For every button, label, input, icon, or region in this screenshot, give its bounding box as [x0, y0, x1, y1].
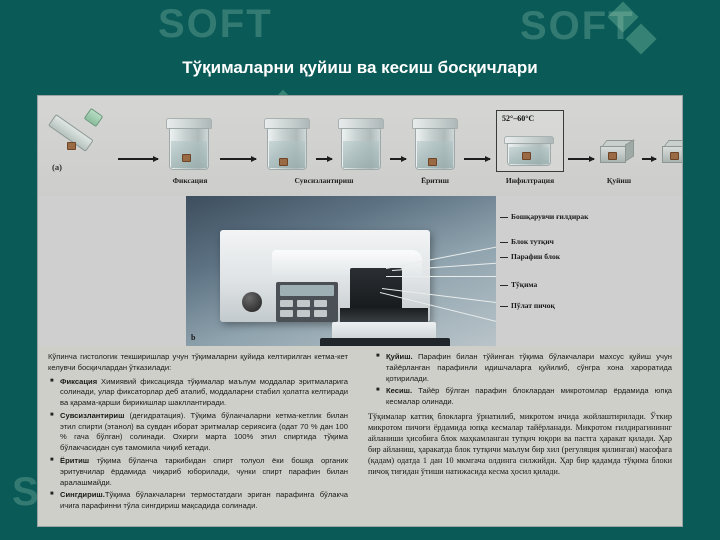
control-key: [280, 310, 293, 317]
callout-dash: [500, 285, 508, 286]
specimen-tube-icon: [56, 114, 102, 158]
callout-handwheel: Бошқарувчи ғилдирак: [500, 212, 588, 221]
callout-steel-knife: Пўлат пичоқ: [500, 301, 555, 310]
jar-fluid: [343, 141, 379, 168]
watermark-text: SOFT: [158, 2, 273, 47]
list-item: Сувсизлантириш (дегидратация). Тўқима бў…: [60, 411, 348, 454]
step-caption-infiltratsiya: Инфилтрация: [486, 176, 574, 185]
jar-clearing: [412, 118, 458, 170]
list-item: Қуйиш. Парафин билан тўйинган тўқима бўл…: [386, 352, 672, 384]
control-key: [280, 300, 293, 307]
control-key: [297, 310, 310, 317]
handwheel-knob-icon: [242, 292, 262, 312]
intro-paragraph: Кўпинча гистологик текширишлар учун тўқи…: [48, 352, 348, 374]
callout-dash: [500, 217, 508, 218]
callout-label: Бошқарувчи ғилдирак: [511, 212, 588, 221]
figure-a-process-diagram: (а) Фиксация Сувсизлантириш: [38, 96, 682, 196]
step-caption-quyish: Қуйиш: [590, 176, 648, 185]
slide-title: Тўқималарни қуйиш ва кесиш босқичлари: [0, 58, 720, 78]
callout-paraffin-block: Парафин блок: [500, 252, 560, 261]
process-arrow: [220, 158, 256, 160]
jar-dehydration-1: [264, 118, 310, 170]
bullet-body: Парафин билан тўйинган тўқима бўлакчалар…: [386, 352, 672, 383]
process-arrow: [118, 158, 158, 160]
tissue-sample: [522, 152, 531, 160]
control-key: [314, 300, 327, 307]
tissue-sample: [182, 154, 191, 162]
list-item: Сингдириш.Тўқима бўлакчаларни термостатд…: [60, 490, 348, 512]
bullet-term: Кесиш.: [386, 386, 412, 395]
callout-label: Блок тутқич: [511, 237, 554, 246]
steel-knife-icon: [340, 308, 428, 322]
tissue-sample: [608, 152, 617, 160]
process-arrow: [390, 158, 406, 160]
temperature-label: 52°–60°C: [502, 114, 534, 123]
text-area: Кўпинча гистологик текширишлар учун тўқи…: [38, 346, 682, 526]
process-arrow: [568, 158, 594, 160]
process-arrow: [464, 158, 490, 160]
figure-b-label: b: [191, 333, 195, 342]
callout-block-holder: Блок тутқич: [500, 237, 554, 246]
process-arrow: [316, 158, 332, 160]
list-item: Кесиш. Тайёр бўлган парафин блоклардан м…: [386, 386, 672, 408]
list-item: Фиксация Химиявий фиксацияда тўқималар м…: [60, 377, 348, 409]
right-bullet-list: Қуйиш. Парафин билан тўйинган тўқима бўл…: [368, 352, 672, 408]
bullet-term: Сувсизлантириш: [60, 411, 124, 420]
callout-dash: [500, 242, 508, 243]
watermark-text: SOFT: [520, 4, 635, 49]
callout-dash: [500, 306, 508, 307]
left-text-column: Кўпинча гистологик текширишлар учун тўқи…: [48, 352, 348, 514]
jar-fiksatsiya: [166, 118, 212, 170]
jar-body: [341, 128, 381, 170]
callout-dash: [500, 257, 508, 258]
infiltration-dish: [504, 136, 554, 166]
microtome-display: [280, 285, 334, 296]
microtome-photo: b: [186, 196, 496, 346]
watermark-diamond: [625, 23, 656, 54]
bullet-body: Химиявий фиксацияда тўқималар маълум мод…: [60, 377, 348, 408]
paraffin-block-2: [662, 140, 682, 164]
bullet-term: Сингдириш.: [60, 490, 105, 499]
tissue-sample: [279, 158, 288, 166]
right-paragraph: Тўқималар каттиқ блокларга ўрнатилиб, ми…: [368, 412, 672, 478]
jar-dehydration-2: [338, 118, 384, 170]
callout-label: Тўқима: [511, 280, 537, 289]
bullet-term: Қуйиш.: [386, 352, 413, 361]
step-caption-sувsizlantirish: Сувсизлантириш: [260, 176, 388, 185]
tissue-sample: [428, 158, 437, 166]
step-caption-yoritish: Ёритиш: [400, 176, 470, 185]
list-item: Ёритиш тўқима бўланча таркибидан спирт т…: [60, 456, 348, 488]
bullet-body: тўқима бўланча таркибидан спирт толуол ё…: [60, 456, 348, 487]
paraffin-block-1: [600, 140, 636, 164]
microtome-tray: [320, 338, 450, 346]
watermark-diamond: [607, 1, 638, 32]
process-arrow: [642, 158, 656, 160]
step-caption-fiksatsiya: Фиксация: [150, 176, 230, 185]
microtome-control-panel: [276, 282, 338, 322]
left-bullet-list: Фиксация Химиявий фиксацияда тўқималар м…: [48, 377, 348, 512]
bullet-term: Ёритиш: [60, 456, 89, 465]
tissue-sample: [67, 142, 76, 150]
callout-leader-line: [386, 276, 496, 277]
callout-tissue: Тўқима: [500, 280, 537, 289]
control-key: [314, 310, 327, 317]
callout-label: Парафин блок: [511, 252, 560, 261]
figure-a-label: (а): [52, 162, 62, 172]
right-text-column: Қуйиш. Парафин билан тўйинган тўқима бўл…: [368, 352, 672, 478]
bullet-body: Тайёр бўлган парафин блоклардан микротом…: [386, 386, 672, 406]
block-side: [625, 139, 634, 162]
tissue-sample: [670, 152, 679, 160]
jar-body: [169, 128, 209, 170]
control-key: [297, 300, 310, 307]
callout-label: Пўлат пичоқ: [511, 301, 555, 310]
content-panel: (а) Фиксация Сувсизлантириш: [38, 96, 682, 526]
tube-cap: [84, 108, 104, 127]
bullet-term: Фиксация: [60, 377, 97, 386]
